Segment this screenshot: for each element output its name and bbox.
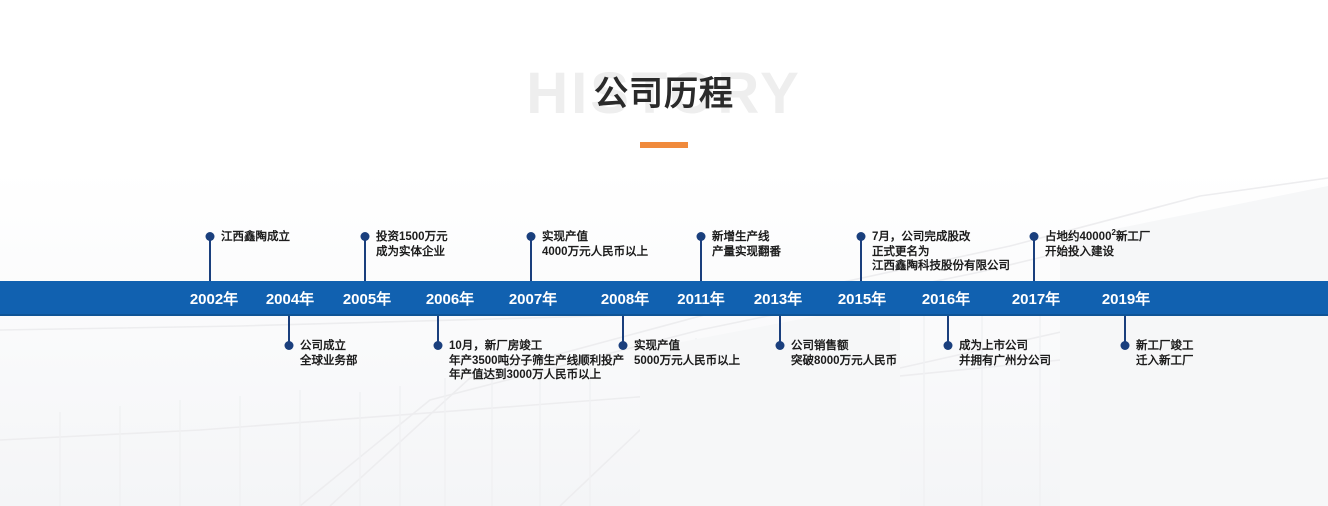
- timeline-event-line: 4000万元人民币以上: [542, 245, 648, 260]
- timeline-year-label[interactable]: 2011年: [677, 288, 725, 309]
- timeline-event-line: 投资1500万元: [376, 230, 448, 245]
- timeline-event-line: 公司销售额: [791, 339, 897, 354]
- timeline-event-line: 江西鑫陶科技股份有限公司: [872, 259, 1010, 274]
- timeline-event-text: 新增生产线产量实现翻番: [712, 230, 781, 259]
- timeline-year-label[interactable]: 2013年: [754, 288, 802, 309]
- timeline-event-line: 江西鑫陶成立: [221, 230, 290, 245]
- timeline-event-line: 开始投入建设: [1045, 245, 1150, 260]
- timeline-marker-dot[interactable]: [857, 232, 866, 241]
- timeline-event-text: 公司销售额突破8000万元人民币: [791, 339, 897, 368]
- timeline-marker-dot[interactable]: [697, 232, 706, 241]
- timeline-event-text: 江西鑫陶成立: [221, 230, 290, 245]
- timeline-connector: [700, 236, 702, 281]
- timeline-marker-dot[interactable]: [1121, 341, 1130, 350]
- timeline-event-line: 实现产值: [542, 230, 648, 245]
- timeline-event-text: 新工厂竣工迁入新工厂: [1136, 339, 1194, 368]
- timeline-year-label[interactable]: 2015年: [838, 288, 886, 309]
- timeline-event-line: 新工厂竣工: [1136, 339, 1194, 354]
- title-accent-underline: [640, 142, 688, 148]
- timeline-connector: [1033, 236, 1035, 281]
- timeline-year-label[interactable]: 2016年: [922, 288, 970, 309]
- page-title: 公司历程: [568, 58, 760, 130]
- timeline-event-text: 实现产值5000万元人民币以上: [634, 339, 740, 368]
- timeline-event-line: 5000万元人民币以上: [634, 354, 740, 369]
- timeline-marker-dot[interactable]: [361, 232, 370, 241]
- timeline-year-label[interactable]: 2002年: [190, 288, 238, 309]
- timeline-event-line: 并拥有广州分公司: [959, 354, 1051, 369]
- timeline-marker-dot[interactable]: [1030, 232, 1039, 241]
- timeline-year-label[interactable]: 2008年: [601, 288, 649, 309]
- timeline-year-label[interactable]: 2006年: [426, 288, 474, 309]
- timeline-event-line: 迁入新工厂: [1136, 354, 1194, 369]
- timeline-marker-dot[interactable]: [776, 341, 785, 350]
- timeline-connector: [209, 236, 211, 281]
- timeline: 2002年江西鑫陶成立2004年公司成立全球业务部2005年投资1500万元成为…: [0, 180, 1328, 410]
- timeline-event-text: 成为上市公司并拥有广州分公司: [959, 339, 1051, 368]
- timeline-event-line: 实现产值: [634, 339, 740, 354]
- timeline-event-text: 10月，新厂房竣工年产3500吨分子筛生产线顺利投产年产值达到3000万人民币以…: [449, 339, 624, 383]
- timeline-event-line: 占地约400002新工厂: [1045, 230, 1150, 245]
- timeline-year-label[interactable]: 2007年: [509, 288, 557, 309]
- timeline-marker-dot[interactable]: [619, 341, 628, 350]
- timeline-connector: [364, 236, 366, 281]
- timeline-event-line: 正式更名为: [872, 245, 1010, 260]
- timeline-marker-dot[interactable]: [206, 232, 215, 241]
- timeline-event-line: 年产值达到3000万人民币以上: [449, 368, 624, 383]
- timeline-event-line: 新增生产线: [712, 230, 781, 245]
- timeline-year-label[interactable]: 2017年: [1012, 288, 1060, 309]
- timeline-event-line: 7月，公司完成股改: [872, 230, 1010, 245]
- timeline-event-line: 10月，新厂房竣工: [449, 339, 624, 354]
- timeline-event-line: 突破8000万元人民币: [791, 354, 897, 369]
- timeline-marker-dot[interactable]: [527, 232, 536, 241]
- timeline-marker-dot[interactable]: [285, 341, 294, 350]
- timeline-connector: [530, 236, 532, 281]
- timeline-event-line: 成为实体企业: [376, 245, 448, 260]
- title-stack: HISTORY 公司历程: [568, 58, 760, 130]
- timeline-marker-dot[interactable]: [944, 341, 953, 350]
- timeline-event-text: 公司成立全球业务部: [300, 339, 358, 368]
- timeline-event-text: 7月，公司完成股改正式更名为江西鑫陶科技股份有限公司: [872, 230, 1010, 274]
- timeline-year-label[interactable]: 2019年: [1102, 288, 1150, 309]
- timeline-marker-dot[interactable]: [434, 341, 443, 350]
- timeline-year-label[interactable]: 2005年: [343, 288, 391, 309]
- timeline-year-label[interactable]: 2004年: [266, 288, 314, 309]
- timeline-event-text: 占地约400002新工厂开始投入建设: [1045, 230, 1150, 259]
- page-header: HISTORY 公司历程: [0, 58, 1328, 148]
- timeline-event-line: 公司成立: [300, 339, 358, 354]
- timeline-event-line: 产量实现翻番: [712, 245, 781, 260]
- timeline-connector: [860, 236, 862, 281]
- timeline-event-text: 投资1500万元成为实体企业: [376, 230, 448, 259]
- timeline-event-line: 成为上市公司: [959, 339, 1051, 354]
- timeline-event-line: 年产3500吨分子筛生产线顺利投产: [449, 354, 624, 369]
- timeline-event-line: 全球业务部: [300, 354, 358, 369]
- timeline-event-text: 实现产值4000万元人民币以上: [542, 230, 648, 259]
